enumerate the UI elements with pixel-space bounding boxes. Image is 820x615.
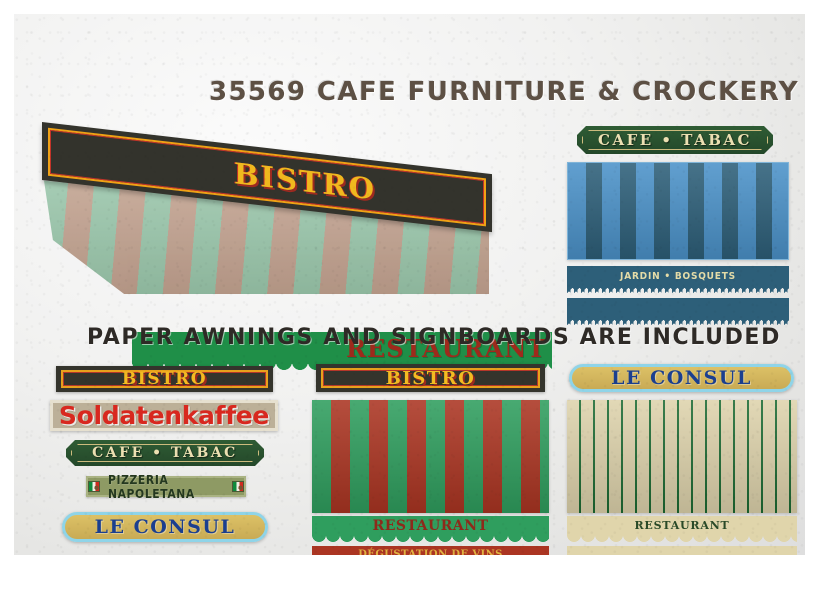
right-awning-valance-1-edge (567, 535, 797, 543)
right-awning-illustration: LE CONSUL RESTAURANT (559, 354, 804, 555)
signboard-bistro-label: BISTRO (122, 369, 207, 389)
blue-awning-sign-label: CAFE • TABAC (598, 131, 752, 149)
center-awning-valance-1-edge (312, 535, 549, 543)
italian-flag-icon-right (232, 481, 244, 492)
big-awning-illustration: BISTRO RESTAURANT (34, 114, 514, 294)
blue-awning-valance-2 (567, 298, 789, 318)
right-awning-canvas (567, 400, 797, 513)
signboard-le-consul[interactable]: LE CONSUL (62, 512, 268, 542)
blue-awning-signboard: CAFE • TABAC (577, 126, 773, 154)
center-awning-illustration: BISTRO RESTAURANT DÉGUSTATION DE VINS (304, 354, 554, 555)
center-awning-signboard[interactable]: BISTRO (316, 364, 545, 392)
signboard-le-consul-label: LE CONSUL (95, 516, 236, 538)
blue-awning-valance-label: JARDIN • BOSQUETS (567, 266, 789, 286)
page-title: 35569 CAFE FURNITURE & CROCKERY (199, 77, 799, 109)
right-awning-sign-label: LE CONSUL (611, 367, 752, 389)
signboard-bistro[interactable]: BISTRO (56, 366, 273, 392)
product-card: 35569 CAFE FURNITURE & CROCKERY BISTRO R… (14, 14, 805, 555)
signboard-soldatenkaffee[interactable]: Soldatenkaffee (50, 400, 278, 431)
italian-flag-icon-left (88, 481, 100, 492)
signboard-cafe-tabac[interactable]: CAFE • TABAC (66, 440, 264, 466)
center-awning-valance-1: RESTAURANT (312, 516, 549, 535)
blue-awning-canvas (567, 162, 789, 260)
center-awning-valance-label: RESTAURANT (312, 516, 549, 535)
big-awning-sign-label: BISTRO (234, 156, 376, 206)
signboard-list: BISTRO Soldatenkaffee CAFE • TABAC PIZZE… (44, 354, 284, 554)
right-awning-valance-1: RESTAURANT (567, 516, 797, 535)
center-awning-valance-label-2: DÉGUSTATION DE VINS (312, 546, 549, 555)
blue-awning-valance-1: JARDIN • BOSQUETS (567, 266, 789, 286)
blue-awning-illustration: CAFE • TABAC JARDIN • BOSQUETS (559, 114, 791, 304)
blue-awning-valance-2-edge (567, 318, 789, 325)
right-awning-valance-label: RESTAURANT (567, 516, 797, 535)
signboard-pizzeria-napoletana[interactable]: PIZZERIA NAPOLETANA (86, 476, 246, 497)
right-awning-valance-2 (567, 546, 797, 555)
blue-awning-valance-1-edge (567, 286, 789, 293)
right-awning-signboard[interactable]: LE CONSUL (569, 364, 794, 392)
signboard-pizzeria-label: PIZZERIA NAPOLETANA (108, 473, 224, 501)
center-awning-valance-2: DÉGUSTATION DE VINS (312, 546, 549, 555)
section-subtitle: PAPER AWNINGS AND SIGNBOARDS ARE INCLUDE… (74, 325, 794, 353)
center-awning-canvas (312, 400, 549, 513)
signboard-cafe-tabac-label: CAFE • TABAC (92, 445, 238, 461)
signboard-soldatenkaffee-label: Soldatenkaffee (59, 401, 269, 430)
center-awning-sign-label: BISTRO (386, 368, 476, 389)
